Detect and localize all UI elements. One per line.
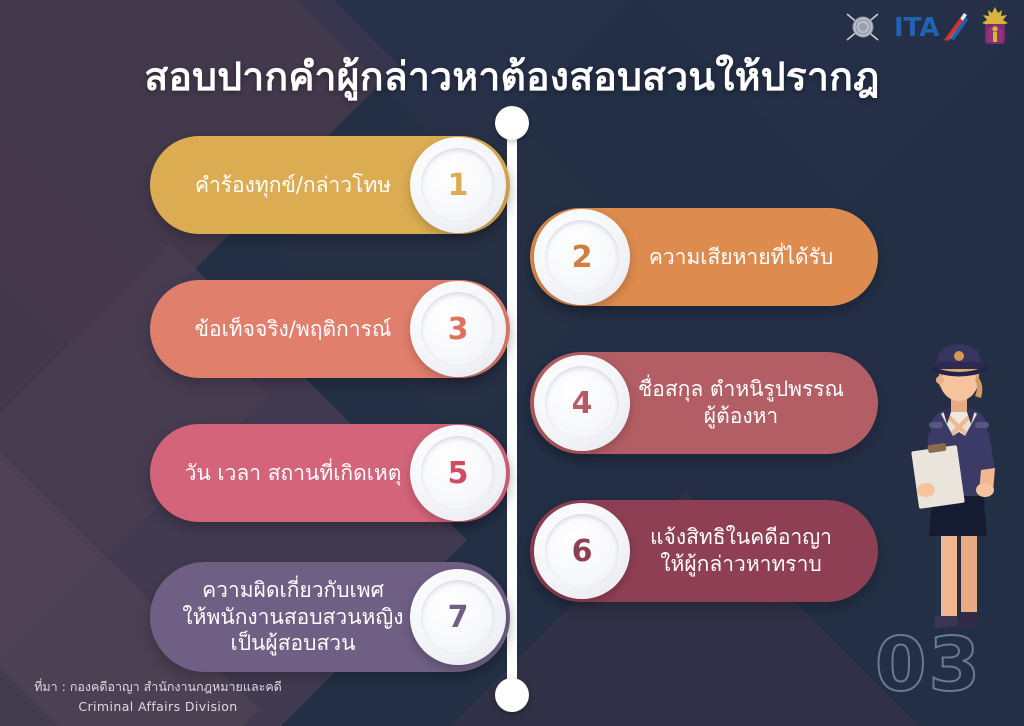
footer-source-english: Criminal Affairs Division [8, 697, 308, 716]
timeline-item-6-number: 6 [572, 534, 593, 569]
page-number-watermark: 03 [875, 622, 982, 708]
timeline-item-5-number: 5 [448, 456, 469, 491]
timeline-item-6-badge: 6 [534, 503, 630, 599]
timeline-item-4-badge: 4 [534, 355, 630, 451]
timeline-end-dot [495, 678, 529, 712]
timeline-item-1[interactable]: คำร้องทุกข์/กล่าวโทษ 1 [150, 136, 510, 234]
timeline-item-2-badge: 2 [534, 209, 630, 305]
page-title: สอบปากคำผู้กล่าวหาต้องสอบสวนให้ปรากฎ [0, 46, 1024, 108]
timeline-item-2-label: ความเสียหายที่ได้รับ [630, 244, 852, 271]
timeline-item-3-label: ข้อเท็จจริง/พฤติการณ์ [176, 316, 410, 343]
timeline-item-7[interactable]: ความผิดเกี่ยวกับเพศ ให้พนักงานสอบสวนหญิง… [150, 562, 510, 672]
timeline-item-7-label: ความผิดเกี่ยวกับเพศ ให้พนักงานสอบสวนหญิง… [176, 577, 410, 658]
timeline-item-4-label: ชื่อสกุล ตำหนิรูปพรรณ ผู้ต้องหา [630, 376, 852, 430]
timeline-item-5-badge: 5 [410, 425, 506, 521]
timeline-item-5[interactable]: วัน เวลา สถานที่เกิดเหตุ 5 [150, 424, 510, 522]
timeline-item-2[interactable]: 2 ความเสียหายที่ได้รับ [530, 208, 878, 306]
footer-source-thai: ที่มา : กองคดีอาญา สำนักงานกฎหมายและคดี [8, 677, 308, 696]
timeline-item-4[interactable]: 4 ชื่อสกุล ตำหนิรูปพรรณ ผู้ต้องหา [530, 352, 878, 454]
footer-source: ที่มา : กองคดีอาญา สำนักงานกฎหมายและคดี … [8, 677, 308, 716]
seal-emblem-icon [844, 8, 882, 46]
ita-logo-text: ITA [894, 13, 940, 43]
timeline-item-6-label: แจ้งสิทธิในคดีอาญา ให้ผู้กล่าวหาทราบ [630, 524, 852, 578]
thai-garuda-emblem-icon [980, 6, 1010, 48]
timeline-start-dot [495, 106, 529, 140]
timeline-item-3[interactable]: ข้อเท็จจริง/พฤติการณ์ 3 [150, 280, 510, 378]
timeline-item-5-label: วัน เวลา สถานที่เกิดเหตุ [176, 460, 410, 487]
timeline-item-1-label: คำร้องทุกข์/กล่าวโทษ [176, 172, 410, 199]
ita-logo: ITA [894, 10, 968, 44]
female-police-officer-illustration [895, 340, 1015, 652]
logo-group: ITA [844, 6, 1010, 48]
timeline-item-1-badge: 1 [410, 137, 506, 233]
timeline-item-7-badge: 7 [410, 569, 506, 665]
timeline-item-7-number: 7 [448, 600, 469, 635]
timeline-item-3-badge: 3 [410, 281, 506, 377]
timeline-item-6[interactable]: 6 แจ้งสิทธิในคดีอาญา ให้ผู้กล่าวหาทราบ [530, 500, 878, 602]
timeline-item-2-number: 2 [572, 240, 593, 275]
timeline-item-1-number: 1 [448, 168, 469, 203]
timeline-item-4-number: 4 [572, 386, 593, 421]
timeline-item-3-number: 3 [448, 312, 469, 347]
infographic-slide: ITA สอบปากคำผู้กล่าวหาต้องสอบสวนให้ปรากฎ… [0, 0, 1024, 726]
